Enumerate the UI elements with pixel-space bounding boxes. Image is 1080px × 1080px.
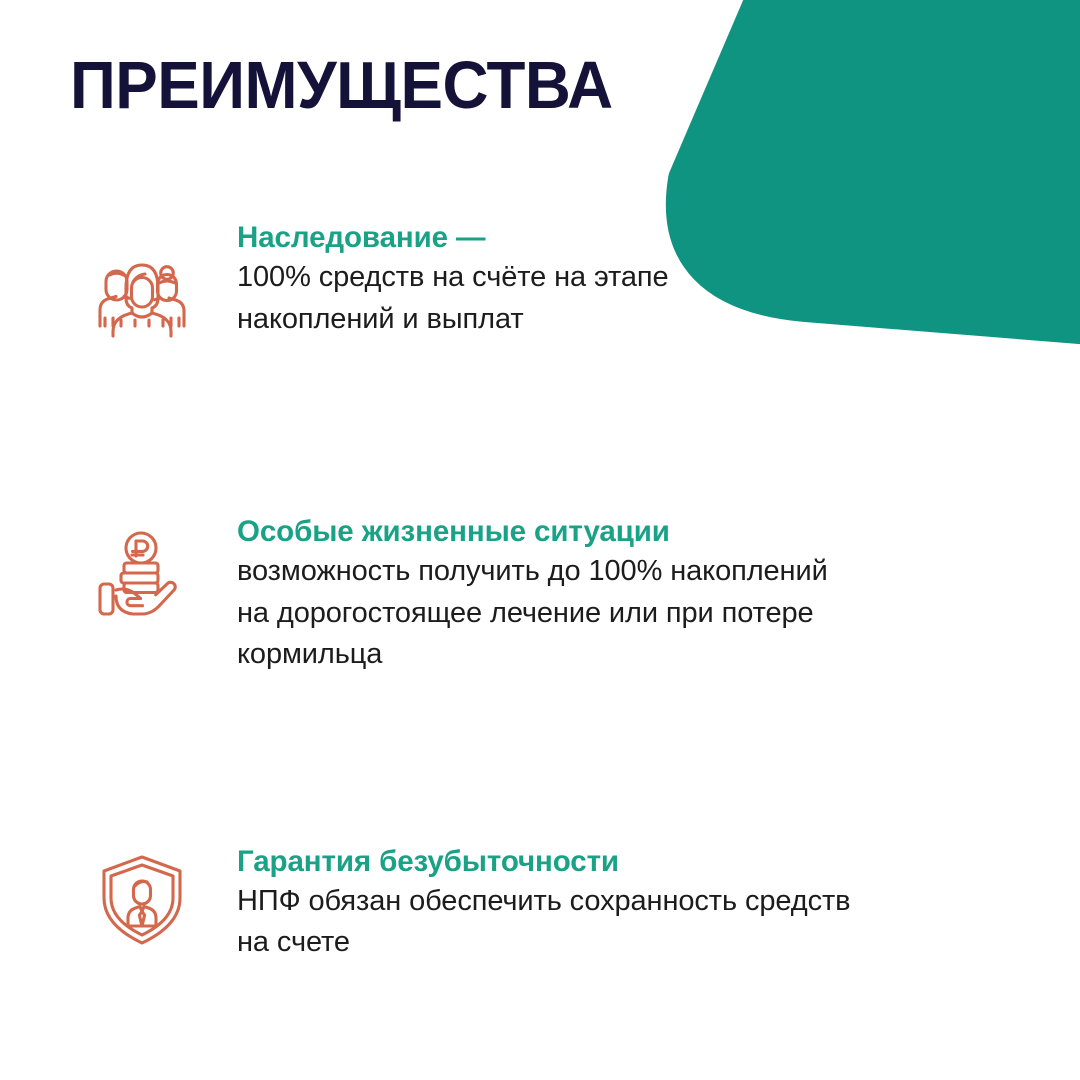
benefit-text: Наследование — 100% средств на счёте на … bbox=[237, 218, 1080, 340]
shield-with-person-icon bbox=[92, 850, 192, 950]
benefit-text: Особые жизненные ситуации возможность по… bbox=[237, 512, 1080, 676]
benefit-heading: Гарантия безубыточности bbox=[237, 842, 1080, 881]
benefit-body: возможность получить до 100% накоплений … bbox=[237, 551, 1080, 675]
list-item: Особые жизненные ситуации возможность по… bbox=[0, 512, 1080, 676]
benefit-heading: Наследование — bbox=[237, 218, 1080, 257]
benefit-text: Гарантия безубыточности НПФ обязан обесп… bbox=[237, 842, 1080, 964]
slide-root: ПРЕИМУЩЕСТВА bbox=[0, 0, 1080, 1080]
benefit-body: НПФ обязан обеспечить сохранность средст… bbox=[237, 881, 1080, 964]
benefits-list: Наследование — 100% средств на счёте на … bbox=[0, 218, 1080, 1080]
family-group-icon bbox=[92, 242, 192, 342]
benefit-body: 100% средств на счёте на этапе накоплени… bbox=[237, 257, 1080, 340]
benefit-heading: Особые жизненные ситуации bbox=[237, 512, 1080, 551]
hand-with-coins-ruble-icon bbox=[92, 524, 192, 624]
list-item: Наследование — 100% средств на счёте на … bbox=[0, 218, 1080, 342]
list-item: Гарантия безубыточности НПФ обязан обесп… bbox=[0, 842, 1080, 964]
page-title: ПРЕИМУЩЕСТВА bbox=[70, 52, 613, 119]
